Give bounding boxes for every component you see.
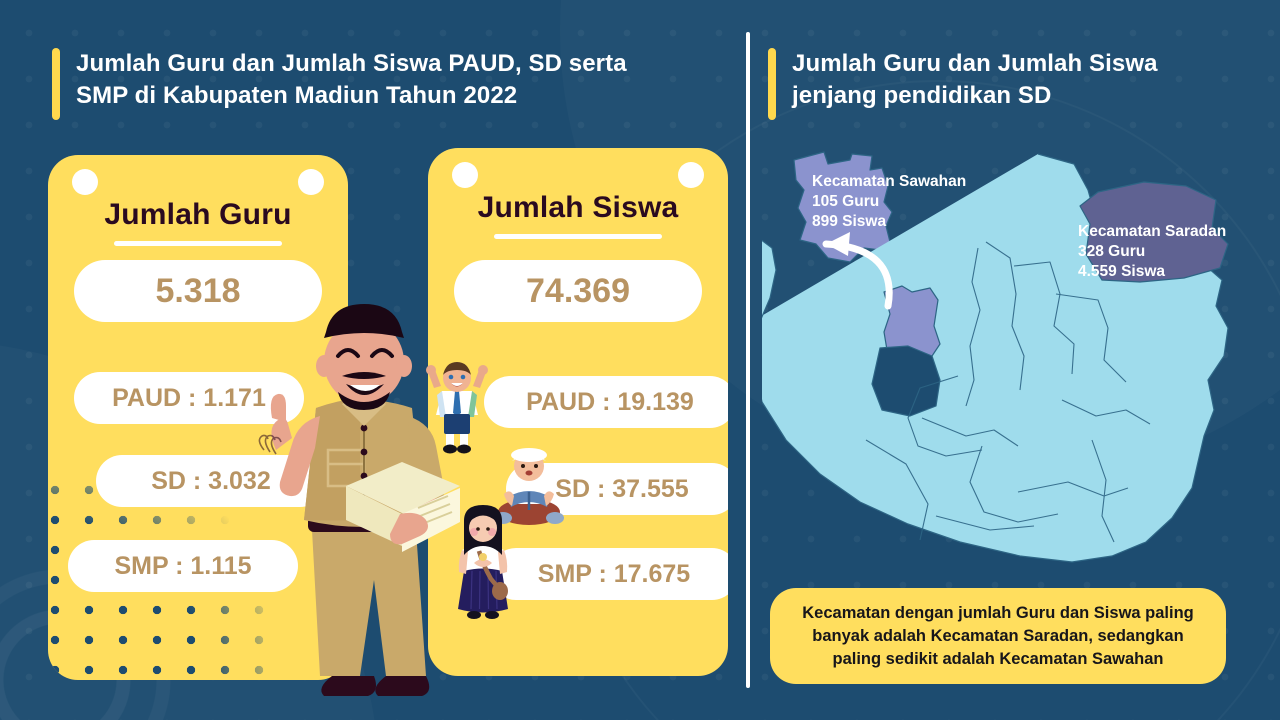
title-accent-bar-left xyxy=(52,48,60,120)
card-punch-hole-left xyxy=(72,169,98,195)
guru-total-value: 5.318 xyxy=(74,260,322,322)
right-panel-title: Jumlah Guru dan Jumlah Siswa jenjang pen… xyxy=(768,48,1218,120)
card-punch-hole-left xyxy=(452,162,478,188)
card-heading-siswa: Jumlah Siswa xyxy=(428,191,728,225)
card-underline-siswa xyxy=(494,234,662,239)
panel-divider xyxy=(746,32,750,688)
siswa-total-value: 74.369 xyxy=(454,260,702,322)
card-heading-guru: Jumlah Guru xyxy=(48,198,348,232)
guru-paud-value: PAUD : 1.171 xyxy=(74,372,304,424)
title-accent-bar-right xyxy=(768,48,776,120)
stat-card-guru: Jumlah Guru 5.318 PAUD : 1.171 SD : 3.03… xyxy=(48,155,348,680)
siswa-smp-value: SMP : 17.675 xyxy=(490,548,728,600)
siswa-sd-value: SD : 37.555 xyxy=(506,463,728,515)
left-panel-title: Jumlah Guru dan Jumlah Siswa PAUD, SD se… xyxy=(52,48,712,120)
stat-card-siswa: Jumlah Siswa 74.369 PAUD : 19.139 SD : 3… xyxy=(428,148,728,676)
guru-smp-value: SMP : 1.115 xyxy=(68,540,298,592)
guru-sd-value: SD : 3.032 xyxy=(96,455,326,507)
map-label-sawahan: Kecamatan Sawahan 105 Guru 899 Siswa xyxy=(812,172,966,231)
infographic-canvas: Jumlah Guru dan Jumlah Siswa PAUD, SD se… xyxy=(0,0,1280,720)
card-punch-hole-right xyxy=(678,162,704,188)
card-punch-hole-right xyxy=(298,169,324,195)
right-title-text: Jumlah Guru dan Jumlah Siswa jenjang pen… xyxy=(792,48,1158,112)
map-label-saradan: Kecamatan Saradan 328 Guru 4.559 Siswa xyxy=(1078,222,1226,281)
left-title-text: Jumlah Guru dan Jumlah Siswa PAUD, SD se… xyxy=(76,48,627,112)
siswa-paud-value: PAUD : 19.139 xyxy=(484,376,728,428)
map-conclusion-callout: Kecamatan dengan jumlah Guru dan Siswa p… xyxy=(770,588,1226,684)
card-underline-guru xyxy=(114,241,282,246)
map-district-shadow xyxy=(872,346,940,416)
